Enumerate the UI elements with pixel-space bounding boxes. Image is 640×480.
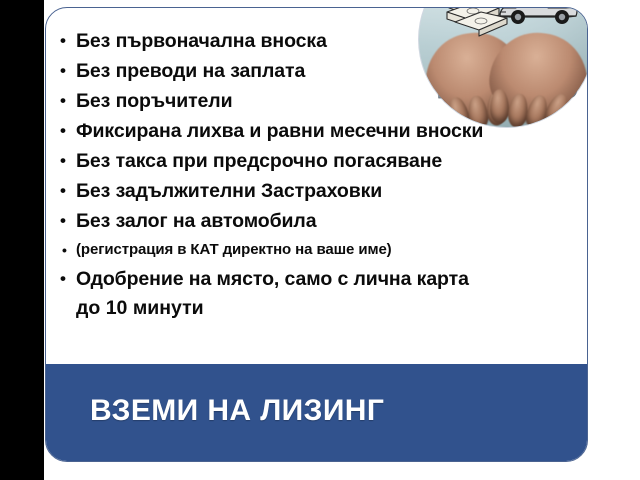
benefit-item-continuation: до 10 минути <box>59 294 588 322</box>
benefit-item: Без залог на автомобила <box>59 206 588 236</box>
benefit-item: Без задължителни Застраховки <box>59 176 588 206</box>
cta-label: ВЗЕМИ НА ЛИЗИНГ <box>90 394 384 428</box>
cta-banner: ВЗЕМИ НА ЛИЗИНГ <box>46 364 588 462</box>
letterbox-left-bar <box>0 0 44 480</box>
benefit-item-note: (регистрация в КАТ директно на ваше име) <box>59 236 588 264</box>
benefit-item: Без такса при предсрочно погасяване <box>59 146 588 176</box>
advert-card: Без първоначална вноска Без преводи на з… <box>45 7 588 462</box>
poster-canvas: Без първоначална вноска Без преводи на з… <box>0 0 640 480</box>
benefit-item: Одобрение на място, само с лична карта <box>59 264 588 294</box>
hands-with-money-and-car-photo <box>419 7 588 127</box>
car-sketch <box>496 7 580 32</box>
